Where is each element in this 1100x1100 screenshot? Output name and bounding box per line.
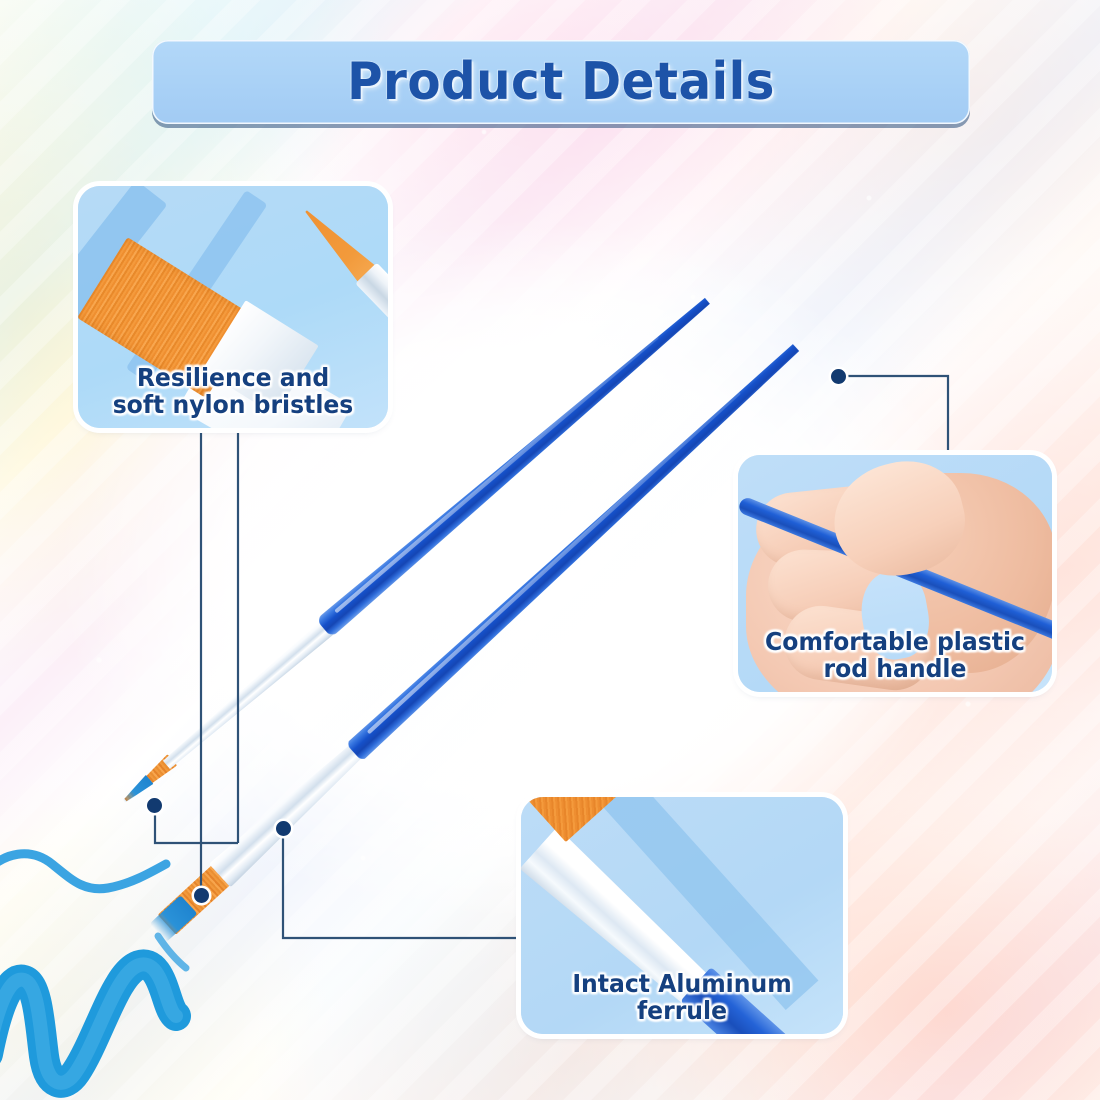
marker-handle [831, 369, 846, 384]
callout-card-ferrule: Intact Aluminum ferrule [521, 797, 843, 1034]
title-banner: Product Details [152, 40, 970, 124]
page-title: Product Details [347, 52, 775, 112]
marker-round-ferrule [147, 798, 162, 813]
callout-card-handle: Comfortable plastic rod handle [738, 455, 1052, 692]
brush-round-ferrule [160, 618, 336, 772]
brush-round-paint-tip [120, 774, 154, 806]
orange-bristles [527, 797, 622, 842]
callout-photo-handle [738, 455, 1052, 692]
callout-card-bristles: Resilience and soft nylon bristles [78, 186, 388, 428]
paint-stroke [0, 840, 320, 1100]
callout-photo-ferrule [521, 797, 843, 1034]
callout-photo-bristles [78, 186, 388, 428]
infographic-canvas: Product Details [0, 0, 1100, 1100]
